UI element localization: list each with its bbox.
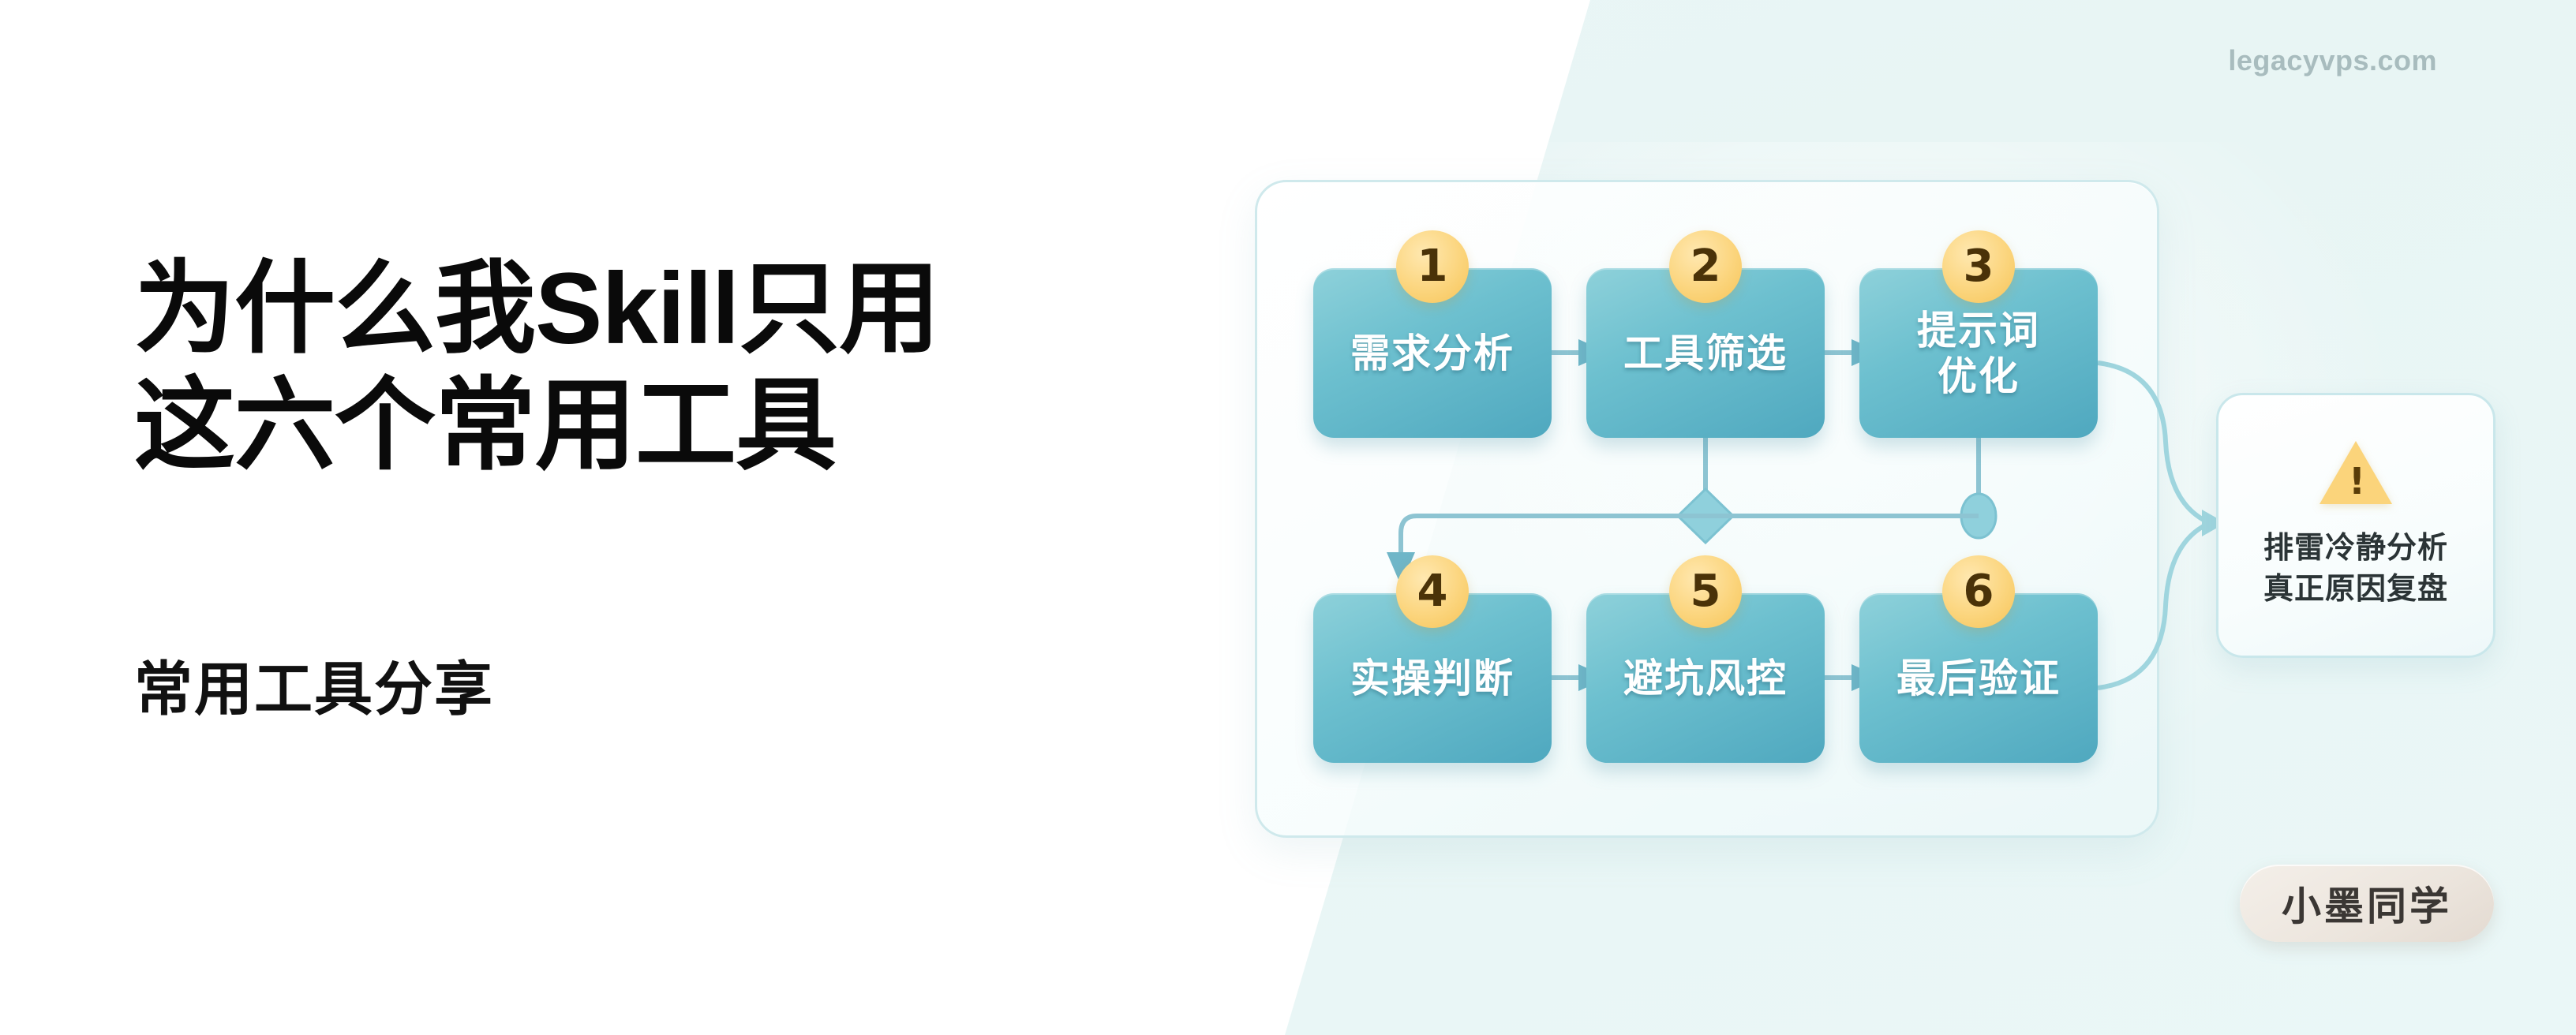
flow-step-3-label: 提示词 优化	[1917, 308, 2040, 399]
step-number-badge-6: 6	[1942, 555, 2015, 628]
page-title-line-1: 为什么我Skill只用	[134, 252, 939, 365]
flow-step-4-label: 实操判断	[1350, 656, 1515, 701]
warning-card[interactable]: 排雷冷静分析 真正原因复盘	[2216, 393, 2495, 658]
hero-text-block: 为什么我Skill只用 这六个常用工具 常用工具分享	[134, 0, 1121, 1035]
page-title-line-2: 这六个常用工具	[134, 368, 1121, 484]
step-number-badge-2: 2	[1669, 230, 1742, 303]
warning-card-text: 排雷冷静分析 真正原因复盘	[2263, 528, 2448, 610]
brand-badge-label: 小墨同学	[2282, 875, 2452, 932]
step-number-badge-4: 4	[1396, 555, 1469, 628]
flow-step-1-label: 需求分析	[1350, 331, 1515, 376]
watermark-label: legacyvps.com	[2228, 44, 2437, 77]
step-number-badge-1: 1	[1396, 230, 1469, 303]
warning-triangle-icon	[2320, 441, 2392, 504]
poster-canvas: legacyvps.com 为什么我Skill只用 这六个常用工具 常用工具分享	[0, 0, 2576, 1035]
page-subtitle: 常用工具分享	[134, 653, 494, 726]
step-number-badge-5: 5	[1669, 555, 1742, 628]
brand-badge[interactable]: 小墨同学	[2240, 865, 2494, 942]
flow-step-2-label: 工具筛选	[1623, 331, 1788, 376]
step-number-badge-3: 3	[1942, 230, 2015, 303]
page-title: 为什么我Skill只用 这六个常用工具	[134, 251, 1121, 484]
flow-step-5-label: 避坑风控	[1623, 656, 1788, 701]
flow-step-6-label: 最后验证	[1896, 656, 2061, 701]
